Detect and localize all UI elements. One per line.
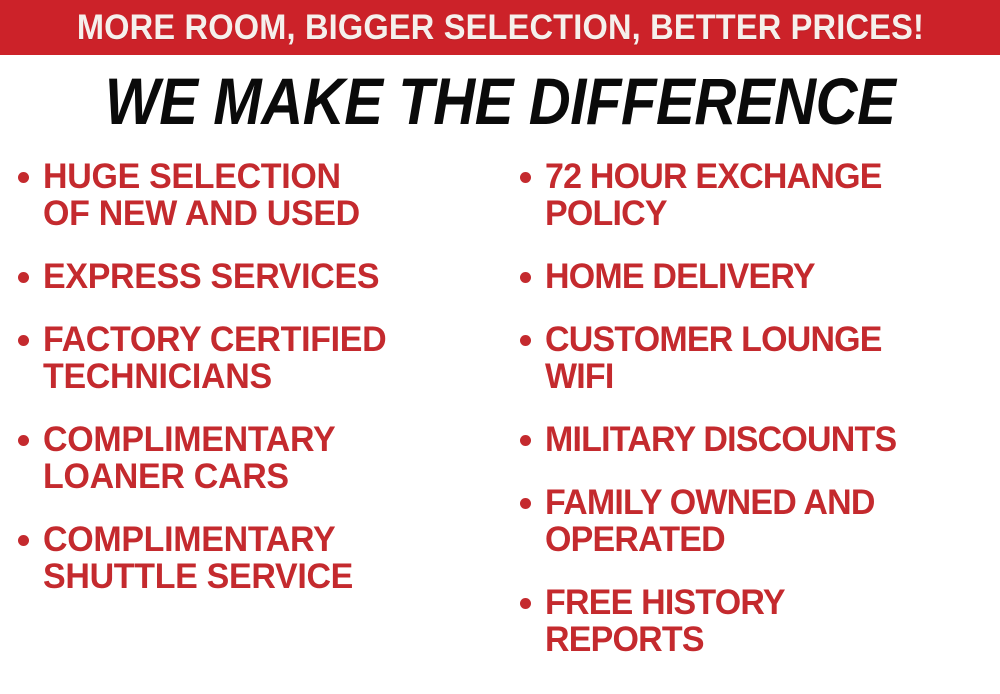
bullet-dot-icon <box>18 272 29 283</box>
bullet-dot-icon <box>520 435 531 446</box>
list-item-label: COMPLIMENTARY SHUTTLE SERVICE <box>43 521 486 595</box>
bullet-dot-icon <box>18 172 29 183</box>
benefits-column-left: HUGE SELECTION OF NEW AND USED EXPRESS S… <box>18 158 500 621</box>
headline: WE MAKE THE DIFFERENCE <box>0 68 1000 134</box>
list-item: HOME DELIVERY <box>520 258 1000 295</box>
list-item-label: MILITARY DISCOUNTS <box>545 421 986 458</box>
list-item: COMPLIMENTARY LOANER CARS <box>18 421 500 495</box>
bullet-dot-icon <box>18 535 29 546</box>
benefits-columns: HUGE SELECTION OF NEW AND USED EXPRESS S… <box>0 158 1000 694</box>
top-banner: MORE ROOM, BIGGER SELECTION, BETTER PRIC… <box>0 0 1000 55</box>
list-item: 72 HOUR EXCHANGE POLICY <box>520 158 1000 232</box>
list-item: FAMILY OWNED AND OPERATED <box>520 484 1000 558</box>
bullet-dot-icon <box>520 172 531 183</box>
list-item-label: HUGE SELECTION OF NEW AND USED <box>43 158 486 232</box>
list-item-label: FREE HISTORY REPORTS <box>545 584 986 658</box>
list-item: FREE HISTORY REPORTS <box>520 584 1000 658</box>
list-item: HUGE SELECTION OF NEW AND USED <box>18 158 500 232</box>
bullet-dot-icon <box>520 498 531 509</box>
bullet-dot-icon <box>18 335 29 346</box>
bullet-dot-icon <box>520 272 531 283</box>
list-item: MILITARY DISCOUNTS <box>520 421 1000 458</box>
list-item-label: EXPRESS SERVICES <box>43 258 486 295</box>
headline-text: WE MAKE THE DIFFERENCE <box>105 68 896 134</box>
list-item: COMPLIMENTARY SHUTTLE SERVICE <box>18 521 500 595</box>
list-item-label: CUSTOMER LOUNGE WIFI <box>545 321 986 395</box>
list-item-label: 72 HOUR EXCHANGE POLICY <box>545 158 986 232</box>
list-item-label: FAMILY OWNED AND OPERATED <box>545 484 986 558</box>
list-item: FACTORY CERTIFIED TECHNICIANS <box>18 321 500 395</box>
top-banner-text: MORE ROOM, BIGGER SELECTION, BETTER PRIC… <box>76 10 923 45</box>
bullet-dot-icon <box>18 435 29 446</box>
list-item-label: COMPLIMENTARY LOANER CARS <box>43 421 486 495</box>
bullet-dot-icon <box>520 335 531 346</box>
list-item-label: FACTORY CERTIFIED TECHNICIANS <box>43 321 486 395</box>
list-item: EXPRESS SERVICES <box>18 258 500 295</box>
list-item: CUSTOMER LOUNGE WIFI <box>520 321 1000 395</box>
benefits-column-right: 72 HOUR EXCHANGE POLICY HOME DELIVERY CU… <box>520 158 1000 684</box>
list-item-label: HOME DELIVERY <box>545 258 986 295</box>
bullet-dot-icon <box>520 598 531 609</box>
